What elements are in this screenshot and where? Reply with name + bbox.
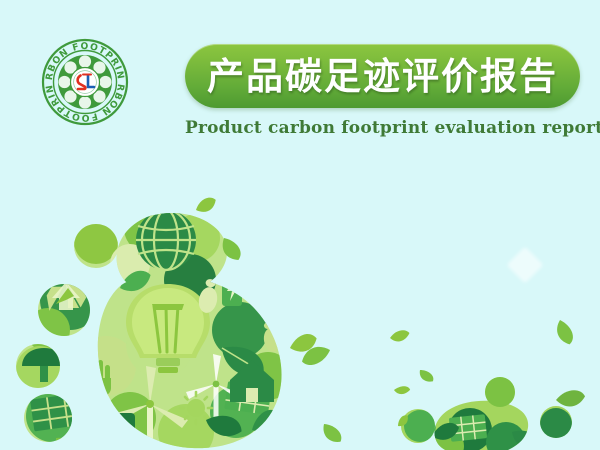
title-banner: 产品碳足迹评价报告: [185, 44, 580, 108]
globe-icon: [136, 198, 198, 270]
leaf-icon: [394, 385, 411, 395]
eco-footprint-artwork: [0, 180, 600, 450]
leaf-icon: [417, 367, 436, 384]
seal-icon: CARBON FOOTPRINT · CARBON FOOTPRINT ·: [40, 37, 130, 127]
footprint-icon: [0, 180, 320, 450]
carbon-footprint-seal-logo: CARBON FOOTPRINT · CARBON FOOTPRINT ·: [40, 37, 130, 127]
footprint-icon: [390, 370, 600, 450]
page-subtitle: Product carbon footprint evaluation repo…: [185, 118, 580, 138]
battery-icon: [222, 270, 242, 306]
leaf-icon: [94, 415, 130, 442]
leaf-icon: [389, 328, 411, 345]
page-title: 产品碳足迹评价报告: [207, 58, 558, 95]
leaf-icon: [552, 318, 576, 347]
leaf-icon: [318, 421, 345, 446]
leaf-icon: [194, 194, 219, 217]
eco-collage-icon: [0, 180, 600, 450]
cover-header: CARBON FOOTPRINT · CARBON FOOTPRINT ·: [0, 0, 600, 165]
report-cover-page: CARBON FOOTPRINT · CARBON FOOTPRINT ·: [0, 0, 600, 450]
recycle-icon: [105, 413, 135, 443]
sun-icon: [180, 392, 212, 424]
